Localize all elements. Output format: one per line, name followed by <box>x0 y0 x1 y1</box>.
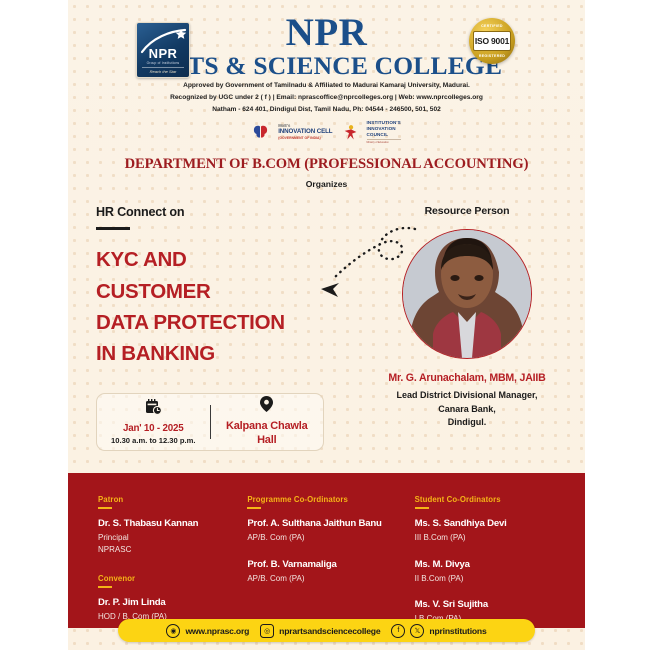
recognition-text: Recognized by UGC under 2 ( f ) | Email:… <box>68 92 585 104</box>
person-name: Prof. A. Sulthana Jaithun Banu <box>247 518 414 529</box>
brain-icon <box>252 125 269 139</box>
person-detail: III B.Com (PA) <box>415 532 555 544</box>
moe-sub: (GOVERNMENT OF INDIA) <box>278 136 332 140</box>
person-name: Ms. S. Sandhiya Devi <box>415 518 555 529</box>
moe-main: INNOVATION CELL <box>278 128 332 135</box>
logo-subtitle: Group of Institutions <box>147 61 180 65</box>
x-twitter-icon: 𝕏 <box>410 624 424 638</box>
column-heading: Convenor <box>98 574 247 583</box>
column-heading: Programme Co-Ordinators <box>247 495 414 504</box>
address-text: Natham - 624 401, Dindigul Dist, Tamil N… <box>68 104 585 116</box>
heading-underline <box>415 507 429 509</box>
person-name: Prof. B. Varnamaliga <box>247 559 414 570</box>
institutions-innovation-council-logo: INSTITUTION'S INNOVATION COUNCIL Ministr… <box>367 120 401 143</box>
person-name: Dr. S. Thabasu Kannan <box>98 518 247 529</box>
iic-sub: Ministry of Education <box>367 139 401 144</box>
resource-person-heading: Resource Person <box>353 205 581 217</box>
event-date: Jan' 10 - 2025 <box>97 423 210 434</box>
resource-person-block: Resource Person Mr. G. Arunachalam, MBM,… <box>353 205 581 430</box>
star-swoosh-icon <box>140 28 188 56</box>
person-detail: Principal NPRASC <box>98 532 247 555</box>
event-details-box: Jan' 10 - 2025 10.30 a.m. to 12.30 p.m. … <box>96 393 324 451</box>
event-title-line: IN BANKING <box>96 338 351 369</box>
social-label: nprartsandsciencecollege <box>279 626 380 636</box>
person-name: Dr. P. Jim Linda <box>98 597 247 608</box>
column-heading: Student Co-Ordinators <box>415 495 555 504</box>
heading-underline <box>98 507 112 509</box>
map-pin-icon <box>260 396 273 412</box>
iso-label: ISO 9001 <box>475 36 509 46</box>
portrait-photo <box>403 230 531 358</box>
calendar-clock-icon <box>145 399 162 415</box>
iic-line2: INNOVATION <box>367 126 401 132</box>
social-link-instagram[interactable]: ◎ nprartsandsciencecollege <box>260 624 380 638</box>
accreditation-logos: MoE's INNOVATION CELL (GOVERNMENT OF IND… <box>68 120 585 143</box>
column-heading: Patron <box>98 495 247 504</box>
npr-college-logo: NPR Group of Institutions Reach the Star <box>136 22 190 78</box>
main-content: HR Connect on KYC AND CUSTOMER DATA PROT… <box>68 205 585 460</box>
role-line: Dindigul. <box>353 416 581 430</box>
heading-underline <box>247 507 261 509</box>
role-line: Canara Bank, <box>353 403 581 417</box>
organizers-band: Patron Dr. S. Thabasu Kannan Principal N… <box>68 473 585 628</box>
logo-tagline: Reach the Star <box>142 67 184 74</box>
social-label: www.nprasc.org <box>185 626 249 636</box>
venue-line: Kalpana Chawla <box>211 420 324 434</box>
person-detail: AP/B. Com (PA) <box>247 532 414 544</box>
iso-bottom-text: REGISTERED <box>479 54 505 58</box>
heading-underline <box>98 586 112 588</box>
footer-column-programme-coordinators: Programme Co-Ordinators Prof. A. Sulthan… <box>247 495 414 625</box>
resource-person-name: Mr. G. Arunachalam, MBM, JAIIB <box>353 372 581 384</box>
role-line: Lead District Divisional Manager, <box>353 389 581 403</box>
iso-9001-badge: CERTIFIED ISO 9001 REGISTERED <box>469 18 515 64</box>
date-time-cell: Jan' 10 - 2025 10.30 a.m. to 12.30 p.m. <box>97 399 210 445</box>
person-detail: AP/B. Com (PA) <box>247 573 414 585</box>
venue-cell: Kalpana Chawla Hall <box>211 396 324 448</box>
resource-person-avatar <box>402 229 532 359</box>
person-name: Ms. V. Sri Sujitha <box>415 599 555 610</box>
person-name: Ms. M. Divya <box>415 559 555 570</box>
organizes-label: Organizes <box>68 179 585 189</box>
globe-icon: ◉ <box>166 624 180 638</box>
venue-name: Kalpana Chawla Hall <box>211 420 324 448</box>
moe-innovation-cell-logo: MoE's INNOVATION CELL (GOVERNMENT OF IND… <box>278 124 332 139</box>
event-poster: NPR Group of Institutions Reach the Star… <box>68 0 585 650</box>
social-links-bar: ◉ www.nprasc.org ◎ nprartsandsciencecoll… <box>118 619 535 642</box>
social-label: nprinstitutions <box>429 626 486 636</box>
footer-column-patron: Patron Dr. S. Thabasu Kannan Principal N… <box>98 495 247 625</box>
social-link-website[interactable]: ◉ www.nprasc.org <box>166 624 249 638</box>
social-link-facebook-x[interactable]: f 𝕏 nprinstitutions <box>391 624 486 638</box>
footer-column-student-coordinators: Student Co-Ordinators Ms. S. Sandhiya De… <box>415 495 555 625</box>
resource-person-role: Lead District Divisional Manager, Canara… <box>353 389 581 430</box>
title-rule <box>96 227 130 230</box>
approval-text: Approved by Government of Tamilnadu & Af… <box>68 80 585 92</box>
poster-header: NPR Group of Institutions Reach the Star… <box>68 0 585 150</box>
facebook-icon: f <box>391 624 405 638</box>
instagram-icon: ◎ <box>260 624 274 638</box>
iic-line3: COUNCIL <box>367 132 401 138</box>
iic-figure-icon <box>342 124 358 140</box>
event-time: 10.30 a.m. to 12.30 p.m. <box>97 436 210 445</box>
department-title: DEPARTMENT OF B.COM (PROFESSIONAL ACCOUN… <box>68 156 585 173</box>
venue-line: Hall <box>211 434 324 448</box>
event-kicker: HR Connect on <box>96 205 351 219</box>
person-detail: II B.Com (PA) <box>415 573 555 585</box>
iso-top-text: CERTIFIED <box>481 24 503 28</box>
